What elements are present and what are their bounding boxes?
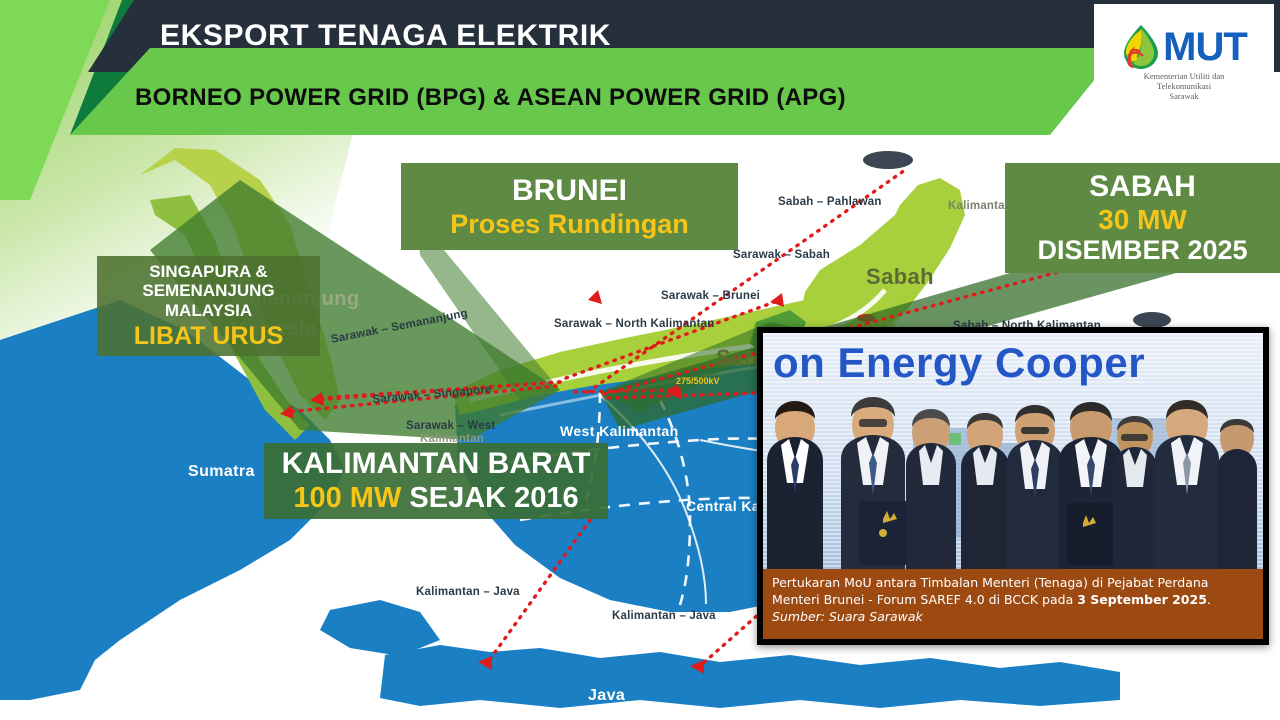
map-label-sarawak-north-kalimantan: Sarawak – North Kalimantan bbox=[554, 318, 715, 330]
callout-kalbar-highlight: 100 MW bbox=[293, 482, 401, 514]
photo-caption-period: . bbox=[1207, 592, 1211, 607]
callout-singapura-highlight: LIBAT URUS bbox=[109, 322, 308, 350]
map-label-sabah-pahlawan: Sabah – Pahlawan bbox=[778, 196, 882, 208]
map-voltage-label: 275/500kV bbox=[676, 376, 720, 386]
page-subtitle: BORNEO POWER GRID (BPG) & ASEAN POWER GR… bbox=[135, 76, 1095, 120]
callout-brunei: BRUNEI Proses Rundingan bbox=[401, 163, 738, 250]
callout-singapura-line2: SEMENANJUNG bbox=[109, 281, 308, 300]
photo-caption: Pertukaran MoU antara Timbalan Menteri (… bbox=[763, 569, 1263, 639]
map-label-sarawak-brunei: Sarawak – Brunei bbox=[661, 290, 760, 302]
callout-brunei-line1: BRUNEI bbox=[413, 174, 726, 208]
callout-kalbar-line1: KALIMANTAN BARAT bbox=[276, 447, 596, 481]
ministry-logo: MUT Kementerian Utiliti dan Telekomunika… bbox=[1094, 4, 1274, 122]
callout-sabah-highlight: 30 MW bbox=[1017, 204, 1268, 235]
map-island-label-west-kalimantan: West Kalimantan bbox=[560, 423, 679, 439]
callout-singapura-line3: MALAYSIA bbox=[109, 301, 308, 320]
logo-subtitle-line3: Sarawak bbox=[1109, 92, 1259, 102]
mou-ceremony-photo: on Energy Cooper bbox=[763, 333, 1263, 581]
callout-brunei-highlight: Proses Rundingan bbox=[413, 209, 726, 239]
page-title: EKSPORT TENAGA ELEKTRIK bbox=[160, 8, 1060, 64]
callout-kalimantan-barat: KALIMANTAN BARAT 100 MW SEJAK 2016 bbox=[264, 443, 608, 519]
map-island-label-central-kalimantan: Central Kal bbox=[686, 498, 764, 514]
logo-row: MUT bbox=[1121, 24, 1247, 70]
photo-caption-source: Sumber: Suara Sarawak bbox=[772, 609, 1254, 626]
callout-kalbar-line2: 100 MW SEJAK 2016 bbox=[276, 482, 596, 515]
flame-droplet-icon bbox=[1121, 24, 1161, 70]
map-label-sarawak-sabah: Sarawak – Sabah bbox=[733, 249, 830, 261]
photo-panel: on Energy Cooper Pertukaran MoU antara T… bbox=[757, 327, 1269, 645]
logo-subtitle: Kementerian Utiliti dan Telekomunikasi S… bbox=[1109, 72, 1259, 101]
map-label-kalimantan-java-1: Kalimantan – Java bbox=[416, 586, 520, 598]
callout-kalbar-line2-rest: SEJAK 2016 bbox=[401, 482, 578, 514]
photo-caption-date: 3 September 2025 bbox=[1077, 592, 1207, 607]
callout-sabah-line3: DISEMBER 2025 bbox=[1017, 235, 1268, 265]
map-island-label-sumatra: Sumatra bbox=[188, 463, 255, 481]
callout-singapura-semenanjung: SINGAPURA & SEMENANJUNG MALAYSIA LIBAT U… bbox=[97, 256, 320, 356]
callout-singapura-line1: SINGAPURA & bbox=[109, 262, 308, 281]
callout-sabah-line1: SABAH bbox=[1017, 170, 1268, 204]
map-label-kalimantan-java-2: Kalimantan – Java bbox=[612, 610, 716, 622]
callout-sabah: SABAH 30 MW DISEMBER 2025 bbox=[1005, 163, 1280, 273]
slide-root: Sabah – Pahlawan Kalimantan – Mindanao S… bbox=[0, 0, 1280, 720]
map-label-sarawak-west: Sarawak – West bbox=[406, 420, 496, 432]
logo-acronym: MUT bbox=[1163, 27, 1247, 67]
map-island-label-java: Java bbox=[588, 687, 625, 705]
photo-backdrop-text: on Energy Cooper bbox=[773, 339, 1263, 387]
map-island-label-sabah: Sabah bbox=[866, 264, 934, 290]
